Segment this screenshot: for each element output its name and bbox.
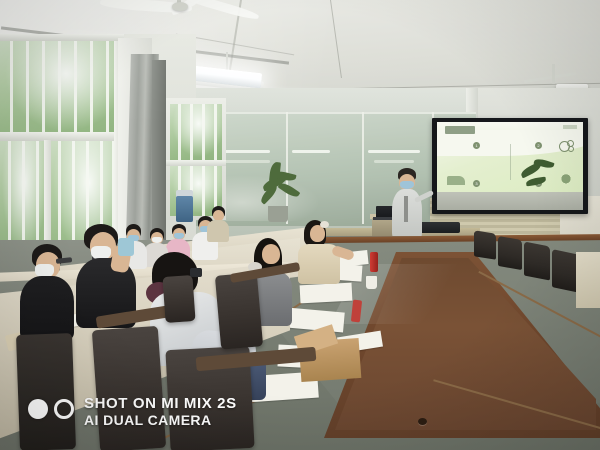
presenter-face-mask: [400, 181, 414, 189]
window-frame-rail: [166, 160, 226, 166]
chair: [16, 333, 76, 450]
screen-lower-blank: [437, 192, 583, 210]
slide-divider: [510, 144, 511, 180]
slide-bullet-number: 1: [473, 142, 480, 149]
chair: [498, 236, 522, 270]
watermark-line-1: SHOT ON MI MIX 2S: [84, 396, 324, 412]
chair: [162, 275, 195, 323]
chair-seat-light: [576, 252, 600, 308]
glass-reflection: [224, 160, 270, 163]
chair: [524, 241, 550, 280]
plant-pot: [268, 206, 288, 222]
slide-corner-mark: [563, 125, 577, 129]
watermark-line-2: AI DUAL CAMERA: [84, 412, 324, 428]
filled-circle-icon: [28, 399, 48, 419]
chair: [92, 326, 166, 450]
window-frame-head: [0, 34, 124, 41]
tree-icon: [559, 174, 573, 186]
glass-reflection: [368, 150, 420, 153]
window-frame-rail: [0, 132, 122, 141]
fan-hub: [172, 2, 188, 11]
documents-stack: [300, 283, 353, 304]
slide-title: [445, 126, 475, 134]
rings-icon: [559, 140, 575, 152]
glass-reflection: [292, 150, 330, 153]
projector-mount: [552, 64, 555, 84]
smartphone-held: [118, 238, 134, 256]
glass-mullion: [362, 112, 364, 224]
chair: [215, 272, 263, 349]
chair: [474, 230, 496, 259]
water-cooler: [176, 196, 193, 222]
window-pane: [0, 40, 120, 136]
table-cable-grommet: [418, 418, 427, 425]
glass-reflection: [374, 160, 414, 163]
eyeglasses: [190, 268, 202, 277]
watermark: SHOT ON MI MIX 2S AI DUAL CAMERA: [84, 396, 324, 428]
presenter-lanyard: [404, 196, 408, 222]
boat-icon: [447, 176, 465, 185]
slide-bullet-number: 2: [535, 142, 542, 149]
outlined-circle-icon: [54, 399, 74, 419]
paper-cup: [366, 276, 377, 289]
presentation-slide: 1 2 3 4: [437, 122, 583, 192]
photo-canvas: 1 2 3 4: [0, 0, 600, 450]
slide-bullet-number: 3: [473, 180, 480, 187]
hair-clip: [320, 221, 329, 228]
projection-screen-surface: 1 2 3 4: [437, 122, 583, 210]
red-thermos: [370, 252, 378, 272]
window-pane: [170, 104, 222, 160]
